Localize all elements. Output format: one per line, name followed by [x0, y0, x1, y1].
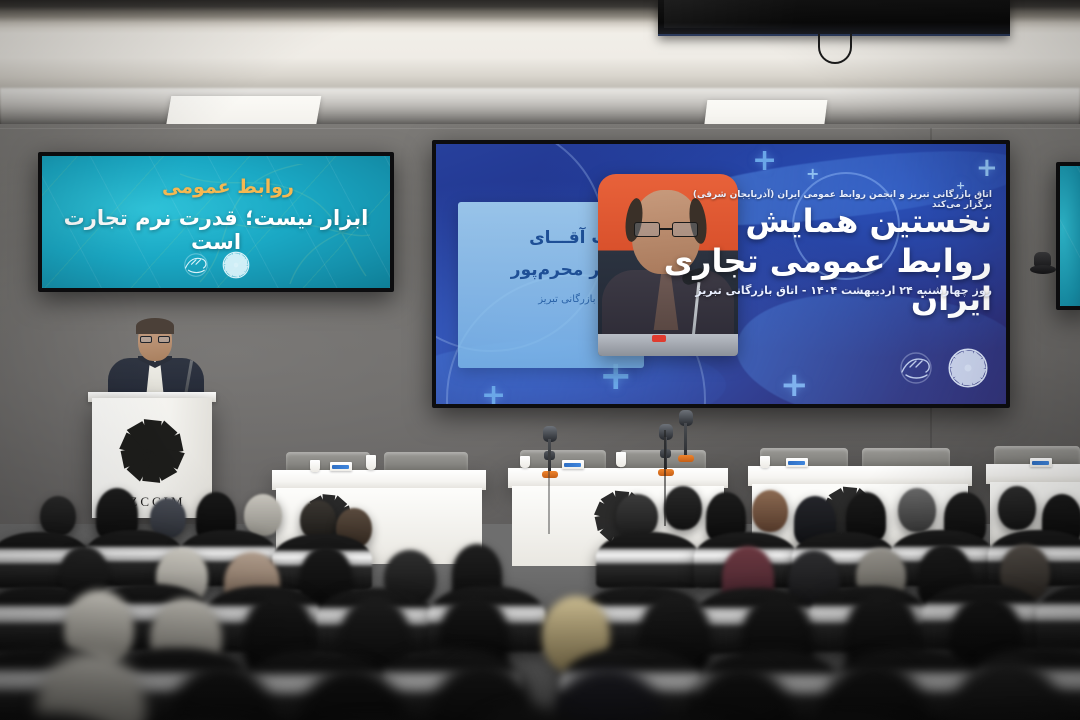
right-screen-background: [1060, 166, 1080, 306]
tzccim-pinwheel-logo-icon: [221, 250, 251, 280]
right-edge-screen[interactable]: [1056, 162, 1080, 310]
audience-head: [898, 488, 936, 532]
calligraphy-logo-icon: [896, 348, 936, 388]
audience-seating: [0, 470, 1080, 720]
portrait-desk: [598, 334, 738, 356]
audience-head: [752, 490, 788, 532]
audience-head: [40, 496, 76, 536]
water-cup-3: [616, 452, 626, 467]
water-cup-5: [760, 456, 770, 468]
decor-plus-icon-3: +: [976, 158, 998, 179]
decor-plus-icon-7: +: [780, 372, 809, 399]
audience-head: [664, 486, 702, 530]
decor-plus-icon-1: +: [752, 149, 777, 173]
speaker-hair: [136, 318, 174, 334]
tissue-box-2: [562, 460, 584, 469]
main-screen-title-line2: روابط عمومی تجاری ایران: [662, 242, 992, 318]
wall-camera-icon: [1030, 252, 1056, 276]
calligraphy-logo-icon: [181, 250, 211, 280]
wall-seam-top: [0, 128, 1080, 129]
tissue-box-3: [786, 458, 808, 467]
tissue-box-4: [1030, 458, 1052, 467]
main-screen-title-line1: نخستین همایش: [662, 202, 992, 240]
microphone-base: [678, 455, 694, 462]
audience-head: [998, 486, 1036, 530]
ceiling-hung-monitor: [658, 0, 1010, 36]
portrait-red-indicator: [652, 335, 666, 342]
water-cup-1: [366, 455, 376, 470]
left-screen-line2: ابزار نیست؛ قدرت نرم تجارت است: [42, 206, 390, 254]
camera-mount: [1030, 265, 1056, 274]
water-cup-4: [520, 456, 530, 468]
main-screen-date: روز چهارشنبه ۲۴ اردیبهشت ۱۴۰۴ - اتاق باز…: [662, 284, 992, 297]
conference-hall-photo: روابط عمومی ابزار نیست؛ قدرت نرم تجارت ا…: [0, 0, 1080, 720]
panel-microphone-2: [658, 424, 674, 476]
tzccim-pinwheel-logo-icon: [946, 346, 990, 390]
left-projection-screen[interactable]: روابط عمومی ابزار نیست؛ قدرت نرم تجارت ا…: [38, 152, 394, 292]
decor-plus-icon-6: +: [481, 384, 506, 408]
decor-plus-icon-2: +: [806, 168, 819, 181]
audience-head: [244, 494, 282, 536]
microphone-stem: [684, 423, 687, 457]
monitor-sheen: [664, 0, 1004, 28]
speaker-eyeglasses-icon: [140, 336, 170, 343]
left-screen-logos: [42, 250, 390, 280]
panel-microphone-3: [678, 418, 692, 462]
main-screen-logos: [896, 346, 990, 390]
main-projection-screen[interactable]: + + + + + + + سخنران: جناب آقـــای جعفر …: [432, 140, 1010, 408]
audience-seat: [596, 532, 700, 588]
left-screen-line1: روابط عمومی: [162, 176, 294, 198]
